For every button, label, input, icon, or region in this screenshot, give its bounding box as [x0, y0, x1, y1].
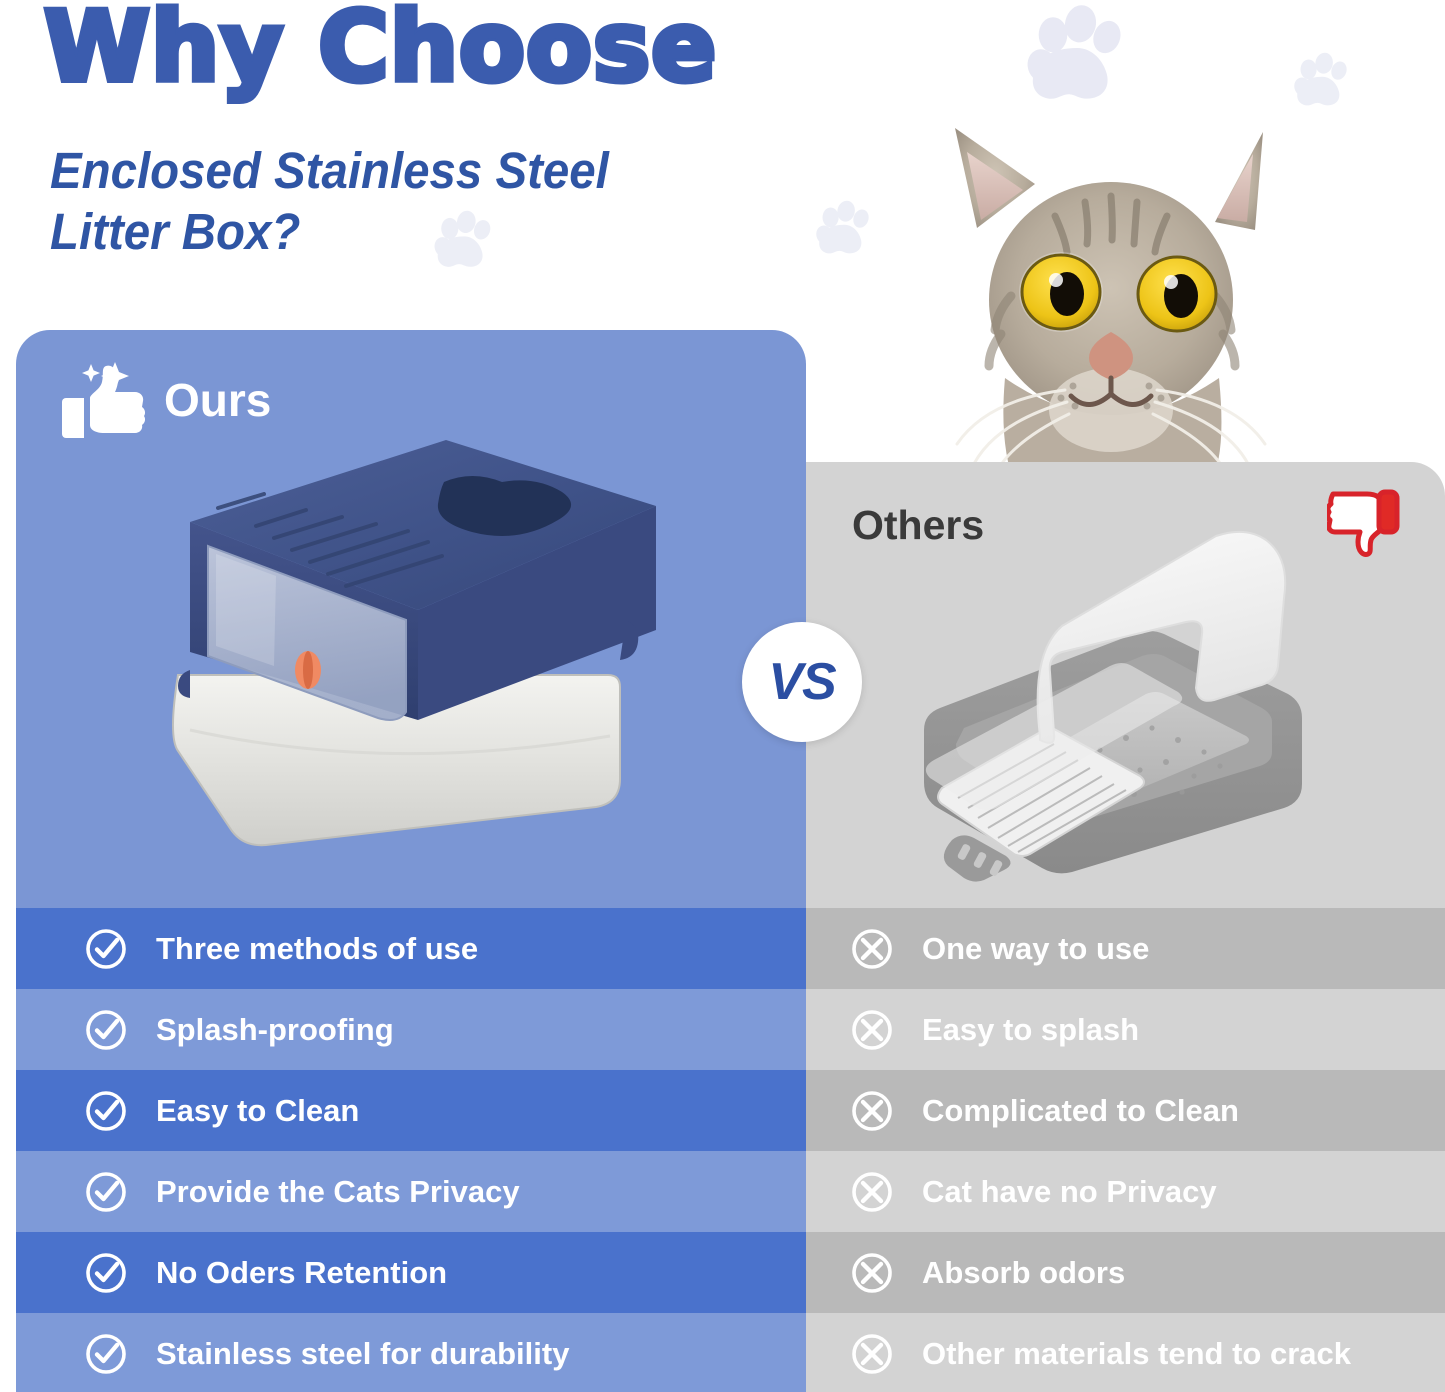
check-circle-icon [84, 1251, 128, 1295]
list-item[interactable]: Stainless steel for durability [16, 1313, 806, 1392]
list-item[interactable]: Easy to Clean [16, 1070, 806, 1151]
others-panel: Others [806, 462, 1445, 1392]
check-circle-icon [84, 1008, 128, 1052]
others-feature-list: One way to use Easy to splash Complicate… [806, 908, 1445, 1392]
list-item-label: Easy to Clean [156, 1093, 359, 1129]
thumbs-up-icon [58, 358, 146, 442]
list-item-label: Stainless steel for durability [156, 1336, 569, 1372]
list-item[interactable]: Provide the Cats Privacy [16, 1151, 806, 1232]
list-item[interactable]: Easy to splash [806, 989, 1445, 1070]
list-item[interactable]: Three methods of use [16, 908, 806, 989]
x-circle-icon [850, 1089, 894, 1133]
list-item-label: Splash-proofing [156, 1012, 394, 1048]
ours-product-image [156, 430, 676, 865]
paw-print-icon [1290, 52, 1352, 114]
list-item-label: Provide the Cats Privacy [156, 1174, 520, 1210]
thumbs-down-icon [1327, 484, 1401, 560]
check-circle-icon [84, 927, 128, 971]
list-item[interactable]: One way to use [806, 908, 1445, 989]
list-item-label: Complicated to Clean [922, 1093, 1239, 1129]
vs-badge: VS [742, 622, 862, 742]
x-circle-icon [850, 1251, 894, 1295]
header: Why Choose Enclosed Stainless Steel Litt… [0, 0, 900, 300]
list-item[interactable]: Splash-proofing [16, 989, 806, 1070]
list-item[interactable]: No Oders Retention [16, 1232, 806, 1313]
list-item[interactable]: Complicated to Clean [806, 1070, 1445, 1151]
list-item[interactable]: Other materials tend to crack [806, 1313, 1445, 1392]
list-item-label: Absorb odors [922, 1255, 1125, 1291]
list-item-label: One way to use [922, 931, 1149, 967]
vs-label: VS [768, 652, 835, 712]
thumbs-down-wrap [1327, 484, 1401, 565]
list-item[interactable]: Absorb odors [806, 1232, 1445, 1313]
check-circle-icon [84, 1332, 128, 1376]
others-product-image [894, 522, 1334, 897]
infographic-root: Why Choose Enclosed Stainless Steel Litt… [0, 0, 1445, 1392]
ours-feature-list: Three methods of use Splash-proofing Eas… [16, 908, 806, 1392]
ours-label: Ours [164, 373, 271, 427]
list-item-label: Other materials tend to crack [922, 1336, 1351, 1372]
check-circle-icon [84, 1170, 128, 1214]
x-circle-icon [850, 1170, 894, 1214]
paw-print-icon [1020, 4, 1130, 114]
list-item-label: Easy to splash [922, 1012, 1139, 1048]
page-title: Why Choose [44, 0, 717, 102]
cat-photo [915, 110, 1305, 485]
x-circle-icon [850, 1332, 894, 1376]
list-item[interactable]: Cat have no Privacy [806, 1151, 1445, 1232]
x-circle-icon [850, 1008, 894, 1052]
list-item-label: No Oders Retention [156, 1255, 447, 1291]
x-circle-icon [850, 927, 894, 971]
list-item-label: Three methods of use [156, 931, 478, 967]
check-circle-icon [84, 1089, 128, 1133]
list-item-label: Cat have no Privacy [922, 1174, 1217, 1210]
page-subtitle: Enclosed Stainless Steel Litter Box? [50, 140, 609, 262]
ours-panel: Ours [16, 330, 806, 1392]
